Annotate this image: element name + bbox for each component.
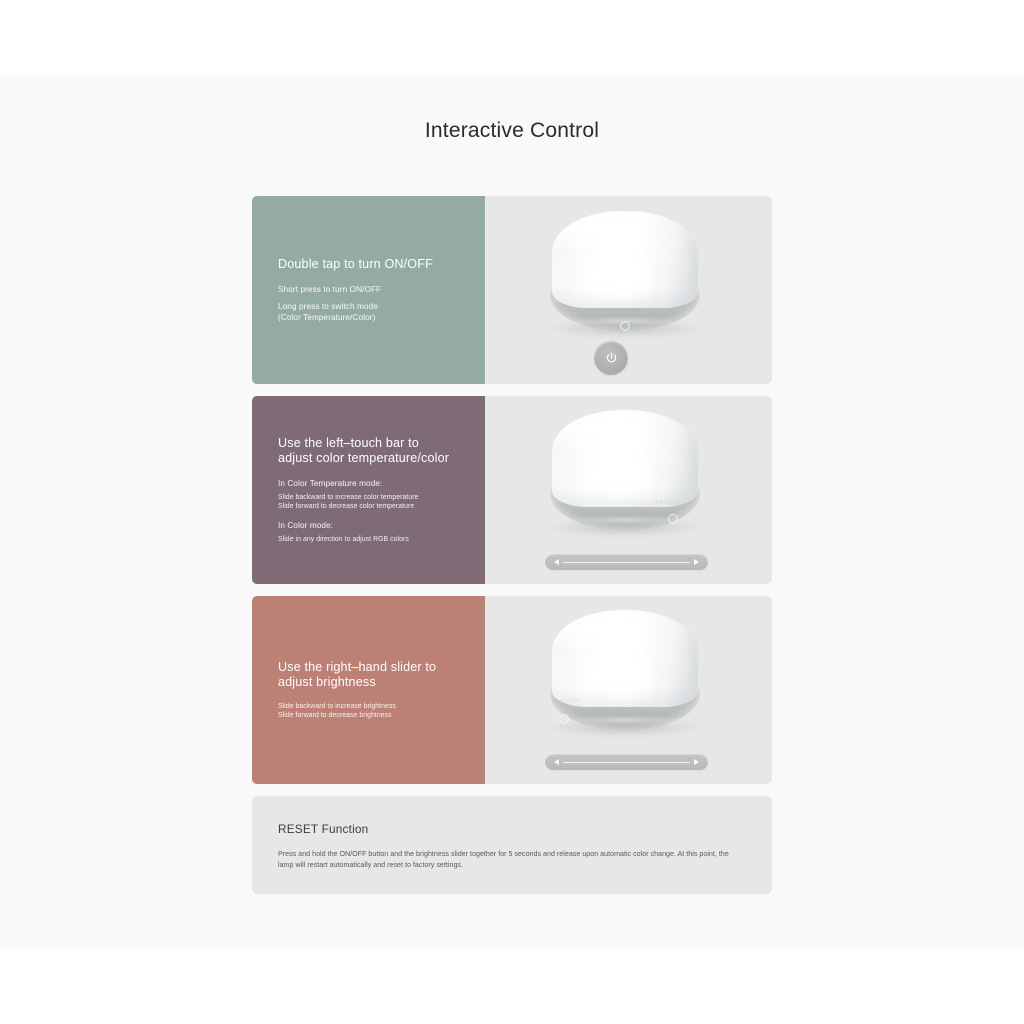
- reset-function-panel: RESET Function Press and hold the ON/OFF…: [252, 796, 772, 894]
- headline-line-2: adjust color temperature/color: [278, 451, 485, 467]
- panel-touch-bar-text: Use the left–touch bar to adjust color t…: [252, 396, 485, 584]
- page-root: Interactive Control Double tap to turn O…: [0, 0, 1024, 1024]
- lamp-illustration: YEELIGHT: [536, 209, 714, 337]
- lamp-illustration: YEELIGHT: [536, 608, 714, 736]
- touch-bar-slider[interactable]: [545, 554, 708, 570]
- lamp-sheen: [604, 648, 652, 704]
- arrow-right-icon: [694, 759, 699, 765]
- panel-on-off-text: Double tap to turn ON/OFF Short press to…: [252, 196, 485, 384]
- lamp-sheen: [604, 249, 652, 305]
- arrow-left-icon: [554, 559, 559, 565]
- panel-brightness-body-1b: Slide forward to decrease brightness: [278, 711, 485, 720]
- lamp-illustration: YEELIGHT: [536, 408, 714, 536]
- power-icon: [604, 351, 619, 366]
- power-button[interactable]: [594, 341, 628, 375]
- headline-line-1: Use the left–touch bar to: [278, 436, 485, 452]
- panel-touch-bar-headline: Use the left–touch bar to adjust color t…: [278, 436, 485, 467]
- arrow-left-icon: [554, 759, 559, 765]
- panel-touch-bar-body-2a: Slide in any direction to adjust RGB col…: [278, 535, 485, 544]
- panel-brightness-text: Use the right–hand slider to adjust brig…: [252, 596, 485, 784]
- panel-touch-bar-body-1a: Slide backward to increase color tempera…: [278, 493, 485, 502]
- panel-touch-bar-subhead-2: In Color mode:: [278, 520, 485, 531]
- lamp-power-indicator-icon: [668, 514, 678, 524]
- lamp-power-indicator-icon: [559, 714, 569, 724]
- brightness-slider[interactable]: [545, 754, 708, 770]
- reset-title: RESET Function: [278, 822, 746, 836]
- slider-track: [563, 762, 690, 763]
- lamp-power-indicator-icon: [620, 321, 630, 331]
- panel-on-off-line-2: Long press to switch mode: [278, 301, 485, 312]
- panel-brightness: Use the right–hand slider to adjust brig…: [252, 596, 772, 784]
- panel-brightness-headline: Use the right–hand slider to adjust brig…: [278, 660, 485, 691]
- spacer: [278, 511, 485, 520]
- lamp-highlight: [574, 418, 608, 470]
- panel-on-off-visual: YEELIGHT: [485, 196, 772, 384]
- lamp-dome: [552, 211, 698, 308]
- panel-on-off-line-3: (Color Temperature/Color): [278, 312, 485, 323]
- panel-brightness-visual: YEELIGHT: [485, 596, 772, 784]
- panel-on-off-line-1: Short press to turn ON/OFF: [278, 284, 485, 295]
- arrow-right-icon: [694, 559, 699, 565]
- panel-touch-bar: Use the left–touch bar to adjust color t…: [252, 396, 772, 584]
- headline-line-2: adjust brightness: [278, 675, 485, 691]
- lamp-highlight: [574, 219, 608, 271]
- lamp-brand-label: YEELIGHT: [610, 307, 640, 312]
- headline-line-1: Use the right–hand slider to: [278, 660, 485, 676]
- panel-touch-bar-subhead-1: In Color Temperature mode:: [278, 478, 485, 489]
- lamp-dome: [552, 410, 698, 507]
- panel-touch-bar-visual: YEELIGHT: [485, 396, 772, 584]
- lamp-sheen: [604, 448, 652, 504]
- page-title: Interactive Control: [0, 119, 1024, 143]
- reset-body: Press and hold the ON/OFF button and the…: [278, 849, 746, 870]
- lamp-highlight: [574, 618, 608, 670]
- panel-touch-bar-body-1b: Slide forward to decrease color temperat…: [278, 502, 485, 511]
- panel-brightness-body-1a: Slide backward to increase brightness: [278, 702, 485, 711]
- panel-list: Double tap to turn ON/OFF Short press to…: [252, 196, 772, 894]
- lamp-dome: [552, 610, 698, 707]
- slider-track: [563, 562, 690, 563]
- panel-on-off: Double tap to turn ON/OFF Short press to…: [252, 196, 772, 384]
- panel-on-off-headline: Double tap to turn ON/OFF: [278, 257, 485, 273]
